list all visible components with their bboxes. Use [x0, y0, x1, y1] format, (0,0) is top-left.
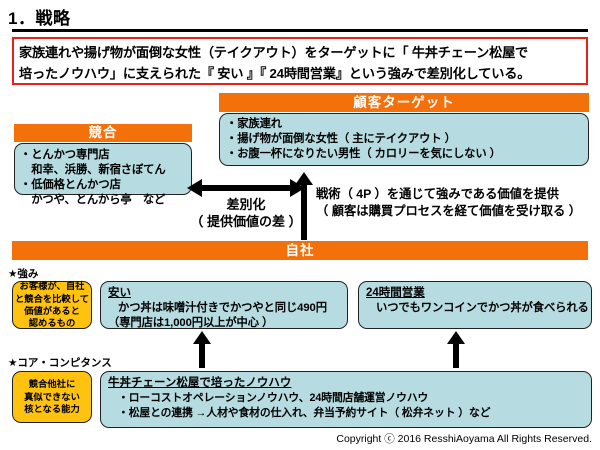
summary-line-2: 培ったノウハウ」に支えられた『 安い 』『 24時間営業』という強みで差別化して… [19, 63, 581, 84]
competitor-line-1: ・とんかつ専門店 [20, 148, 186, 163]
strength-def-line-4: 認めるもの [29, 317, 76, 329]
own-company-header: 自社 [12, 241, 588, 260]
customer-line-1: ・家族連れ [226, 117, 582, 132]
strength-item-cheap-box: 安い かつ丼は味噌汁付きでかつやと同じ490円 （専門店は1,000円以上が中心… [100, 281, 348, 329]
arrow-shaft [200, 185, 292, 191]
strength-def-line-2: と競合を比較して [15, 293, 89, 305]
summary-line-1: 家族連れや揚げ物が面倒な女性（テイクアウト）をターゲットに「 牛丼チェーン松屋で [19, 42, 581, 63]
knowhow-to-24h-up-arrow-icon [447, 331, 465, 368]
knowhow-line-2: ・松屋との連携 →人材や食材の仕入れ、弁当予約サイト（ 松弁ネット ）など [108, 406, 584, 421]
knowhow-title: 牛丼チェーン松屋で培ったノウハウ [108, 376, 584, 391]
customer-line-2: ・揚げ物が面倒な女性（ 主にテイクアウト ） [226, 132, 582, 147]
page-title: 1．戦略 [8, 4, 70, 29]
differentiation-caption-line-1: 差別化 [180, 196, 312, 213]
strength-cheap-line-2: （専門店は1,000円以上が中心 ） [108, 316, 340, 331]
arrow-shaft [301, 184, 307, 240]
core-def-line-1: 競合他社に [29, 378, 76, 390]
value-delivery-line-1: 戦術（ 4P ）を通じて強みである価値を提供 [316, 186, 596, 203]
core-def-line-3: 核となる能力 [24, 403, 80, 415]
knowhow-to-cheap-up-arrow-icon [193, 331, 211, 368]
copyright-footer: Copyright ⓒ 2016 ResshiAoyama All Rights… [336, 431, 592, 446]
strength-24h-line-1: いつでもワンコインでかつ丼が食べられる [366, 301, 584, 316]
differentiation-caption: 差別化 （ 提供価値の差 ） [180, 196, 312, 230]
competitor-line-4: かつや、とんから亭 など [20, 193, 186, 208]
value-delivery-up-arrow-icon [294, 172, 314, 240]
strength-cheap-line-1: かつ丼は味噌汁付きでかつやと同じ490円 [108, 301, 340, 316]
arrow-shaft [199, 342, 205, 368]
strength-star-label: ★強み [8, 266, 38, 281]
core-competence-knowhow-box: 牛丼チェーン松屋で培ったノウハウ ・ローコストオペレーションノウハウ、24時間店… [100, 371, 592, 428]
strength-definition-box: お客様が、自社 と競合を比較して 価値があると 認めるもの [12, 281, 92, 329]
strength-24h-title: 24時間営業 [366, 286, 584, 301]
strategy-summary-box: 家族連れや揚げ物が面倒な女性（テイクアウト）をターゲットに「 牛丼チェーン松屋で… [12, 37, 588, 85]
value-delivery-caption: 戦術（ 4P ）を通じて強みである価値を提供 （ 顧客は購買プロセスを経て価値を… [316, 186, 596, 220]
value-delivery-line-2: （ 顧客は購買プロセスを経て価値を受け取る ） [316, 203, 596, 220]
strength-item-24h-box: 24時間営業 いつでもワンコインでかつ丼が食べられる [358, 281, 592, 329]
strength-cheap-title: 安い [108, 286, 340, 301]
differentiation-arrow-icon [187, 179, 305, 197]
competitor-line-3: ・低価格とんかつ店 [20, 178, 186, 193]
title-divider [12, 29, 588, 32]
core-def-line-2: 真似できない [24, 391, 80, 403]
differentiation-caption-line-2: （ 提供価値の差 ） [180, 213, 312, 230]
core-competence-definition-box: 競合他社に 真似できない 核となる能力 [12, 371, 92, 423]
strength-def-line-1: お客様が、自社 [20, 280, 85, 292]
competitor-box: ・とんかつ専門店 和幸、浜勝、新宿さぼてん ・低価格とんかつ店 かつや、とんから… [14, 143, 192, 195]
arrow-shaft [453, 342, 459, 368]
strength-def-line-3: 価値があると [24, 305, 80, 317]
competitor-header: 競合 [14, 124, 192, 142]
slide-canvas: 1．戦略 家族連れや揚げ物が面倒な女性（テイクアウト）をターゲットに「 牛丼チェ… [0, 0, 600, 450]
core-competence-star-label: ★コア・コンピタンス [8, 355, 112, 370]
knowhow-line-1: ・ローコストオペレーションノウハウ、24時間店舗運営ノウハウ [108, 391, 584, 406]
customer-target-header: 顧客ターゲット [219, 93, 589, 112]
competitor-line-2: 和幸、浜勝、新宿さぼてん [20, 163, 186, 178]
customer-target-box: ・家族連れ ・揚げ物が面倒な女性（ 主にテイクアウト ） ・お腹一杯になりたい男… [219, 113, 589, 166]
customer-line-3: ・お腹一杯になりたい男性（ カロリーを気にしない ） [226, 147, 582, 162]
